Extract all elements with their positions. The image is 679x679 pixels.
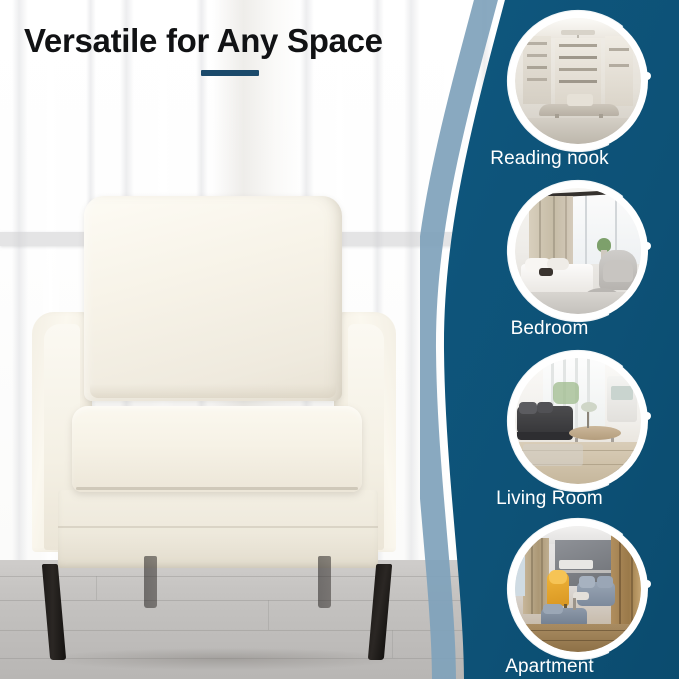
use-case-label: Living Room — [420, 488, 679, 510]
use-case-item-bedroom[interactable]: Bedroom — [420, 176, 679, 346]
chair-shadow — [48, 648, 398, 670]
chair-leg-back-right — [318, 556, 331, 608]
page-title: Versatile for Any Space — [24, 22, 383, 60]
use-case-item-apartment[interactable]: Apartment — [420, 514, 679, 679]
title-underline-accent — [201, 70, 259, 76]
use-case-label: Bedroom — [420, 318, 679, 340]
chair-leg-front-right — [368, 564, 392, 660]
use-case-photo-living-room — [515, 358, 641, 484]
accent-chair — [18, 196, 418, 666]
infographic-canvas: Versatile for Any Space — [0, 0, 679, 679]
chair-seat-piping — [76, 487, 358, 490]
use-case-label: Apartment — [420, 656, 679, 678]
chair-back-cushion — [84, 196, 342, 401]
use-case-photo-apartment — [515, 526, 641, 652]
chair-base-seam — [58, 526, 378, 528]
use-case-label: Reading nook — [420, 148, 679, 170]
chair-seat-cushion — [72, 406, 362, 492]
use-case-item-living-room[interactable]: Living Room — [420, 346, 679, 516]
chair-leg-front-left — [42, 564, 66, 660]
chair-leg-back-left — [144, 556, 157, 608]
use-case-item-reading-nook[interactable]: Reading nook — [420, 6, 679, 176]
use-case-list: Reading nook — [420, 0, 679, 679]
use-case-photo-bedroom — [515, 188, 641, 314]
use-case-photo-reading-nook — [515, 18, 641, 144]
